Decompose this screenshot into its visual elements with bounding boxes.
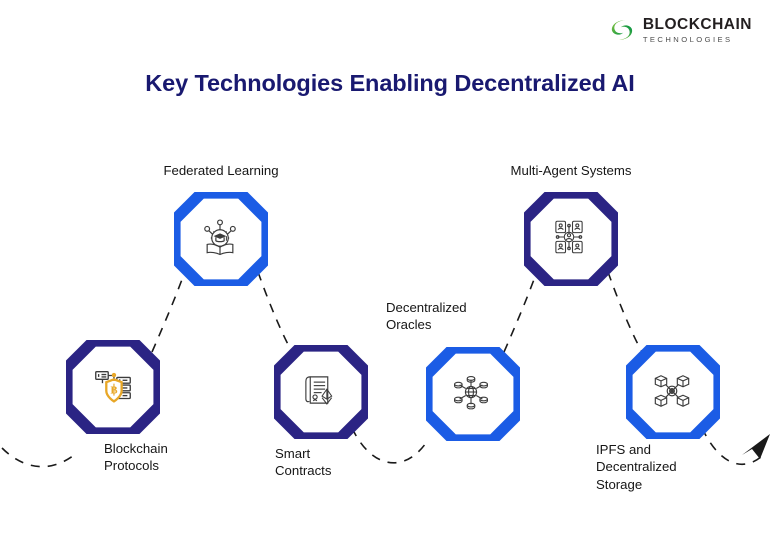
node-label-multi-agent-systems: Multi-Agent Systems	[491, 162, 651, 179]
globe-network-nodes-icon	[450, 371, 496, 417]
node-multi-agent-systems[interactable]: Multi-Agent Systems	[524, 192, 618, 286]
node-decentralized-oracles[interactable]: Decentralized Oracles	[426, 347, 520, 441]
node-label-blockchain-protocols: Blockchain Protocols	[104, 440, 244, 475]
node-blockchain-protocols[interactable]: B Blockchain Protocols	[66, 340, 160, 434]
node-label-smart-contracts: Smart Contracts	[275, 445, 415, 480]
octagon-ring-decentralized-oracles[interactable]	[426, 347, 520, 441]
contract-scroll-ethereum-icon	[298, 369, 344, 415]
octagon-ring-smart-contracts[interactable]	[274, 345, 368, 439]
shield-bitcoin-server-icon: B	[90, 364, 136, 410]
node-label-federated-learning: Federated Learning	[141, 162, 301, 179]
node-label-ipfs-decentralized-storage: IPFS and Decentralized Storage	[596, 441, 746, 493]
right-end-arrow-icon	[742, 434, 770, 459]
node-federated-learning[interactable]: Federated Learning	[174, 192, 268, 286]
distributed-cubes-icon	[650, 369, 696, 415]
node-ipfs-decentralized-storage[interactable]: IPFS and Decentralized Storage	[626, 345, 720, 439]
octagon-ring-multi-agent-systems[interactable]	[524, 192, 618, 286]
graduation-book-gear-icon	[198, 216, 244, 262]
node-label-decentralized-oracles: Decentralized Oracles	[386, 299, 536, 334]
node-smart-contracts[interactable]: Smart Contracts	[274, 345, 368, 439]
octagon-ring-ipfs-decentralized-storage[interactable]	[626, 345, 720, 439]
octagon-ring-federated-learning[interactable]	[174, 192, 268, 286]
agents-network-icon	[548, 216, 594, 262]
octagon-ring-blockchain-protocols[interactable]: B	[66, 340, 160, 434]
infographic-canvas: BLOCKCHAIN TECHNOLOGIES Key Technologies…	[0, 0, 780, 534]
